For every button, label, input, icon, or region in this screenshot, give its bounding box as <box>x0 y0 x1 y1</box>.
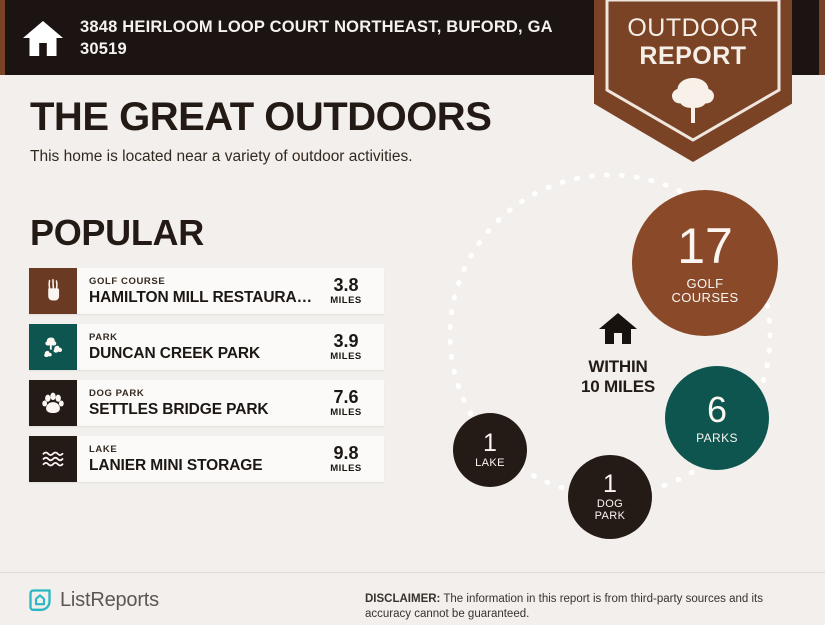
stat-bubble-dog-park[interactable]: 1 DOG PARK <box>568 455 652 539</box>
bubble-label-line-1: LAKE <box>475 458 505 470</box>
bubble-count: 1 <box>603 472 617 497</box>
park-trees-icon <box>29 324 77 370</box>
distance-unit: MILES <box>330 407 362 419</box>
list-item-category: DOG PARK <box>89 388 316 400</box>
list-item-text: LAKE LANIER MINI STORAGE <box>77 436 316 482</box>
center-label-line-2: 10 MILES <box>548 377 688 397</box>
distance-value: 3.9 <box>333 332 358 351</box>
list-item-name: HAMILTON MILL RESTAURANT <box>89 288 316 307</box>
footer-divider <box>0 572 825 573</box>
paw-icon <box>29 380 77 426</box>
distance-unit: MILES <box>330 295 362 307</box>
list-item[interactable]: GOLF COURSE HAMILTON MILL RESTAURANT 3.8… <box>29 268 384 314</box>
list-item-text: PARK DUNCAN CREEK PARK <box>77 324 316 370</box>
center-label-line-1: WITHIN <box>548 357 688 377</box>
listreports-logo[interactable]: ListReports <box>28 588 159 612</box>
bubble-count: 17 <box>677 221 733 271</box>
list-item[interactable]: LAKE LANIER MINI STORAGE 9.8 MILES <box>29 436 384 482</box>
list-item-name: SETTLES BRIDGE PARK <box>89 400 316 419</box>
distance-value: 9.8 <box>333 444 358 463</box>
list-item-distance: 7.6 MILES <box>316 380 384 426</box>
badge-line-1: OUTDOOR <box>627 14 758 42</box>
list-item-distance: 9.8 MILES <box>316 436 384 482</box>
bubble-count: 1 <box>483 431 497 456</box>
list-item-text: DOG PARK SETTLES BRIDGE PARK <box>77 380 316 426</box>
badge-line-2: REPORT <box>594 42 792 70</box>
header-address: 3848 HEIRLOOM LOOP COURT NORTHEAST, BUFO… <box>80 16 570 60</box>
list-item-name: DUNCAN CREEK PARK <box>89 344 316 363</box>
list-item-text: GOLF COURSE HAMILTON MILL RESTAURANT <box>77 268 316 314</box>
house-icon <box>548 312 688 351</box>
listreports-pin-icon <box>28 588 52 612</box>
list-item-name: LANIER MINI STORAGE <box>89 456 316 475</box>
list-item-category: LAKE <box>89 444 316 456</box>
house-icon <box>22 18 64 58</box>
stat-bubble-lake[interactable]: 1 LAKE <box>453 413 527 487</box>
list-item-category: GOLF COURSE <box>89 276 316 288</box>
distance-value: 7.6 <box>333 388 358 407</box>
proximity-diagram: 17 GOLF COURSES 6 PARKS 1 LAKE 1 DOG PAR… <box>420 170 820 560</box>
disclaimer: DISCLAIMER: The information in this repo… <box>365 592 805 621</box>
section-heading-popular: POPULAR <box>30 212 204 254</box>
bubble-label-line-1: PARKS <box>696 432 738 445</box>
tree-icon <box>668 76 718 124</box>
bubble-label-line-1: DOG <box>597 499 623 511</box>
outdoor-report-page: 3848 HEIRLOOM LOOP COURT NORTHEAST, BUFO… <box>0 0 825 625</box>
page-title: THE GREAT OUTDOORS <box>30 95 491 140</box>
list-item-category: PARK <box>89 332 316 344</box>
badge-title: OUTDOOR REPORT <box>594 14 792 70</box>
waves-icon <box>29 436 77 482</box>
distance-value: 3.8 <box>333 276 358 295</box>
header-content: 3848 HEIRLOOM LOOP COURT NORTHEAST, BUFO… <box>0 0 570 75</box>
bubble-count: 6 <box>707 392 727 428</box>
bubble-label-line-2: COURSES <box>671 291 738 305</box>
listreports-logo-text: ListReports <box>60 589 159 612</box>
page-subtitle: This home is located near a variety of o… <box>30 148 413 166</box>
popular-places-list: GOLF COURSE HAMILTON MILL RESTAURANT 3.8… <box>29 268 384 492</box>
list-item-distance: 3.8 MILES <box>316 268 384 314</box>
bubble-label-line-1: GOLF <box>687 277 724 291</box>
list-item-distance: 3.9 MILES <box>316 324 384 370</box>
diagram-center-marker: WITHIN 10 MILES <box>548 312 688 397</box>
list-item[interactable]: DOG PARK SETTLES BRIDGE PARK 7.6 MILES <box>29 380 384 426</box>
header-right-accent-strip <box>819 0 825 75</box>
bubble-label-line-2: PARK <box>595 511 626 523</box>
disclaimer-label: DISCLAIMER: <box>365 593 440 605</box>
distance-unit: MILES <box>330 351 362 363</box>
list-item[interactable]: PARK DUNCAN CREEK PARK 3.9 MILES <box>29 324 384 370</box>
golf-icon <box>29 268 77 314</box>
distance-unit: MILES <box>330 463 362 475</box>
